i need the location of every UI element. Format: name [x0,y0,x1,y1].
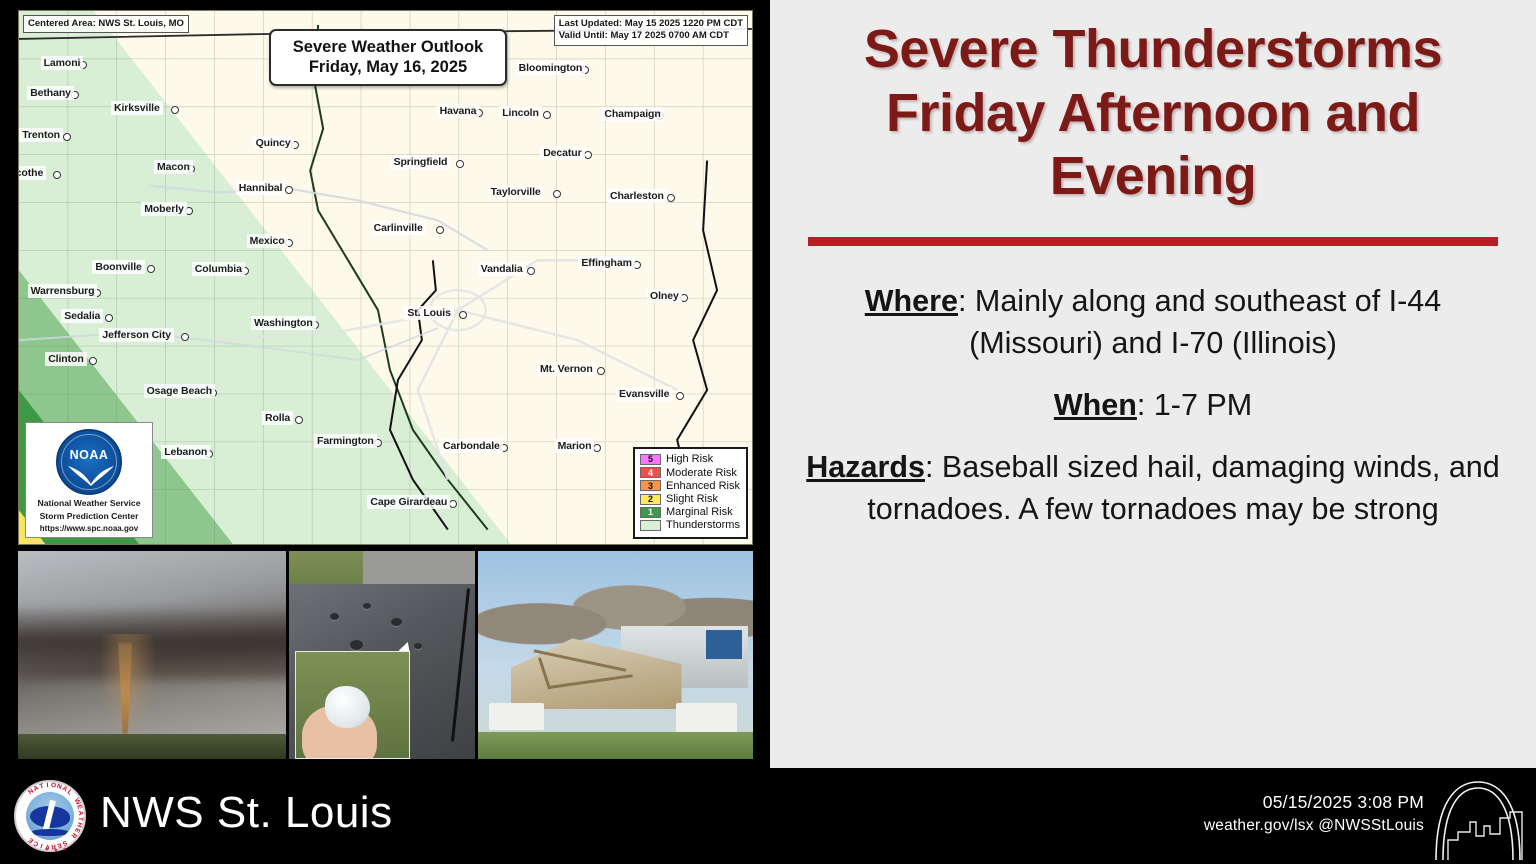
when-text: : 1-7 PM [1137,388,1252,422]
legend-swatch [640,520,661,531]
map-title-line2: Friday, May 16, 2025 [275,57,501,77]
city-label: Quincy [253,136,294,150]
legend-row: 1Marginal Risk [640,506,740,519]
centered-area-label: Centered Area: NWS St. Louis, MO [23,15,189,33]
city-label: Olney [647,289,682,303]
legend-swatch: 3 [640,480,661,491]
legend-row: 5High Risk [640,453,740,466]
city-label: Trenton [19,128,63,142]
noaa-seal-icon: NOAA [56,429,122,495]
tornado-photo [18,551,286,759]
city-label: Columbia [192,262,245,276]
hazards-line: Hazards: Baseball sized hail, damaging w… [800,446,1506,530]
city-marker [105,314,113,322]
city-label: Mt. Vernon [537,362,596,376]
where-line: Where: Mainly along and southeast of I-4… [800,280,1506,364]
structure-damage-photo [478,551,753,759]
noaa-url: https://www.spc.noaa.gov [29,524,149,533]
footer-bar: NATIONAL WEATHER SERVICE NWS St. Louis 0… [0,768,1536,864]
where-text: : Mainly along and southeast of I-44 (Mi… [958,284,1441,360]
city-marker [543,111,551,119]
legend-label: Enhanced Risk [666,480,740,492]
legend-swatch: 1 [640,507,661,518]
city-marker [89,357,97,365]
city-label: Carbondale [440,439,503,453]
risk-legend: 5High Risk4Moderate Risk3Enhanced Risk2S… [633,447,748,539]
city-marker [295,416,303,424]
hailstone-inset [295,651,410,759]
city-marker [181,333,189,341]
city-marker [553,190,561,198]
city-label: Bethany [27,86,74,100]
legend-swatch: 5 [640,454,661,465]
city-label: Osage Beach [144,384,215,398]
headline-line-2: Friday Afternoon and [800,82,1506,146]
left-column: LamoniBethanyTrentonChillicotheKirksvill… [0,0,770,768]
city-marker [597,367,605,375]
legend-row: 2Slight Risk [640,492,740,505]
city-marker [53,171,61,179]
nws-seal-icon: NATIONAL WEATHER SERVICE [14,780,86,852]
city-label: Lamoni [41,56,84,70]
city-label: Lebanon [161,445,210,459]
city-marker [676,392,684,400]
legend-label: Thunderstorms [666,519,740,531]
city-label: Taylorville [488,185,544,199]
noaa-line2: Storm Prediction Center [29,511,149,522]
city-label: Rolla [262,411,293,425]
city-marker [171,106,179,114]
city-label: Boonville [92,260,144,274]
legend-row: 4Moderate Risk [640,466,740,479]
city-label: Hannibal [236,181,286,195]
outlook-map[interactable]: LamoniBethanyTrentonChillicotheKirksvill… [18,10,753,545]
city-label: Jefferson City [99,328,174,342]
city-marker [147,265,155,273]
gateway-arch-icon [1426,774,1530,860]
city-label: Clinton [45,352,86,366]
legend-label: Marginal Risk [666,506,733,518]
city-marker [527,267,535,275]
headline-line-3: Evening [800,145,1506,209]
info-panel: Severe Thunderstorms Friday Afternoon an… [770,0,1536,768]
city-label: Vandalia [478,262,526,276]
city-label: Springfield [391,155,451,169]
when-label: When [1054,388,1137,422]
legend-row: 3Enhanced Risk [640,479,740,492]
city-marker [436,226,444,234]
legend-swatch: 4 [640,467,661,478]
city-label: Warrensburg [28,284,98,298]
city-label: Marion [555,439,595,453]
noaa-bird-icon [66,462,116,486]
noaa-line1: National Weather Service [29,498,149,509]
hazards-label: Hazards [806,450,925,484]
legend-label: Moderate Risk [666,467,737,479]
city-label: Lincoln [499,106,542,120]
legend-label: Slight Risk [666,493,718,505]
city-marker [449,500,457,508]
map-title-line1: Severe Weather Outlook [275,37,501,57]
city-marker [667,194,675,202]
headline-line-1: Severe Thunderstorms [800,18,1506,82]
legend-label: High Risk [666,453,713,465]
city-label: Bloomington [516,61,586,75]
timestamp: 05/15/2025 3:08 PM [1204,792,1424,813]
city-label: Evansville [616,387,672,401]
hail-damage-photo [289,551,475,759]
office-name: NWS St. Louis [100,788,393,838]
city-label: Champaign [601,107,663,121]
city-label: Moberly [141,202,187,216]
city-marker [63,133,71,141]
where-label: Where [865,284,958,318]
city-label: Sedalia [61,309,103,323]
city-label: Effingham [578,256,634,270]
city-label: Havana [437,104,480,118]
city-label: Carlinville [371,221,426,235]
city-marker [584,151,592,159]
city-label: Chillicothe [18,166,46,180]
legend-row: Thunderstorms [640,519,740,532]
city-label: Washington [251,316,316,330]
web-handle: weather.gov/lsx @NWSStLouis [1204,817,1424,835]
city-marker [459,311,467,319]
city-marker [285,186,293,194]
noaa-logo-box: NOAA National Weather Service Storm Pred… [25,422,153,538]
noaa-wordmark: NOAA [58,448,120,462]
city-label: Charleston [607,189,667,203]
city-label: Mexico [247,234,288,248]
city-label: Kirksville [111,101,163,115]
city-marker [456,160,464,168]
city-label: Cape Girardeau [367,495,450,509]
footer-meta: 05/15/2025 3:08 PM weather.gov/lsx @NWSS… [1204,792,1424,835]
city-label: Macon [154,160,193,174]
legend-swatch: 2 [640,494,661,505]
city-label: St. Louis [404,306,453,320]
city-label: Decatur [540,146,584,160]
when-line: When: 1-7 PM [800,384,1506,426]
page-title: Severe Thunderstorms Friday Afternoon an… [800,18,1506,209]
details-block: Where: Mainly along and southeast of I-4… [800,280,1506,530]
accent-divider [808,237,1498,246]
hazards-text-2: A few tornadoes may be strong [1018,492,1438,526]
severe-weather-graphic: LamoniBethanyTrentonChillicotheKirksvill… [0,0,1536,864]
city-label: Farmington [314,434,377,448]
photo-strip [18,551,753,759]
update-valid-label: Last Updated: May 15 2025 1220 PM CDT Va… [554,15,748,46]
map-title-box: Severe Weather Outlook Friday, May 16, 2… [269,29,507,86]
